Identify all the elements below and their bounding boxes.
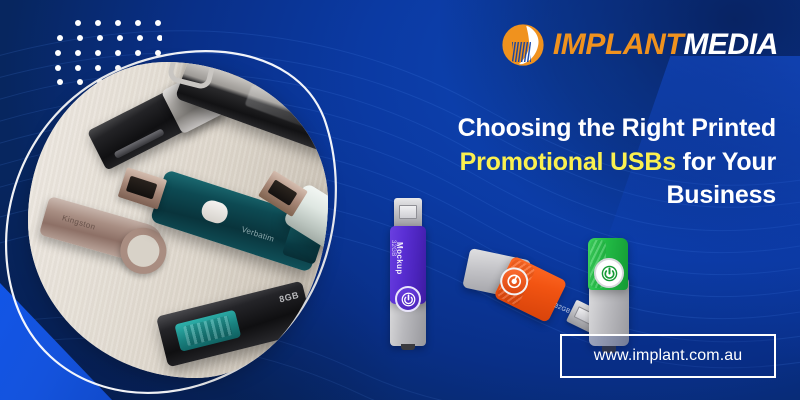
headline-line-3: Business	[666, 181, 776, 209]
headline-line-1: Choosing the Right Printed	[458, 114, 776, 142]
mockup-brand-label: Mockup	[395, 242, 404, 275]
headline-line-2-tail: for Your	[676, 148, 776, 176]
mockup-green-usb	[588, 238, 630, 348]
promotional-banner: Kingston Verbatim 8GB	[0, 0, 800, 400]
headline-accent: Promotional USBs	[460, 148, 676, 176]
mockup-purple-usb: 32GB Mockup	[388, 198, 428, 346]
website-url-text: www.implant.com.au	[594, 347, 743, 365]
page-title: Choosing the Right Printed Promotional U…	[384, 112, 776, 213]
usb-connector	[394, 198, 422, 228]
logo-text-media: MEDIA	[683, 28, 778, 61]
implant-media-circle-mark-icon	[502, 24, 544, 66]
brand-logo[interactable]: IMPLANTMEDIA	[502, 24, 778, 66]
power-logo-icon	[395, 286, 421, 312]
logo-text-implant: IMPLANT	[553, 28, 684, 61]
website-url-box[interactable]: www.implant.com.au	[560, 334, 776, 378]
power-logo-icon	[594, 258, 624, 288]
usb-photo: Kingston Verbatim 8GB	[28, 62, 328, 378]
